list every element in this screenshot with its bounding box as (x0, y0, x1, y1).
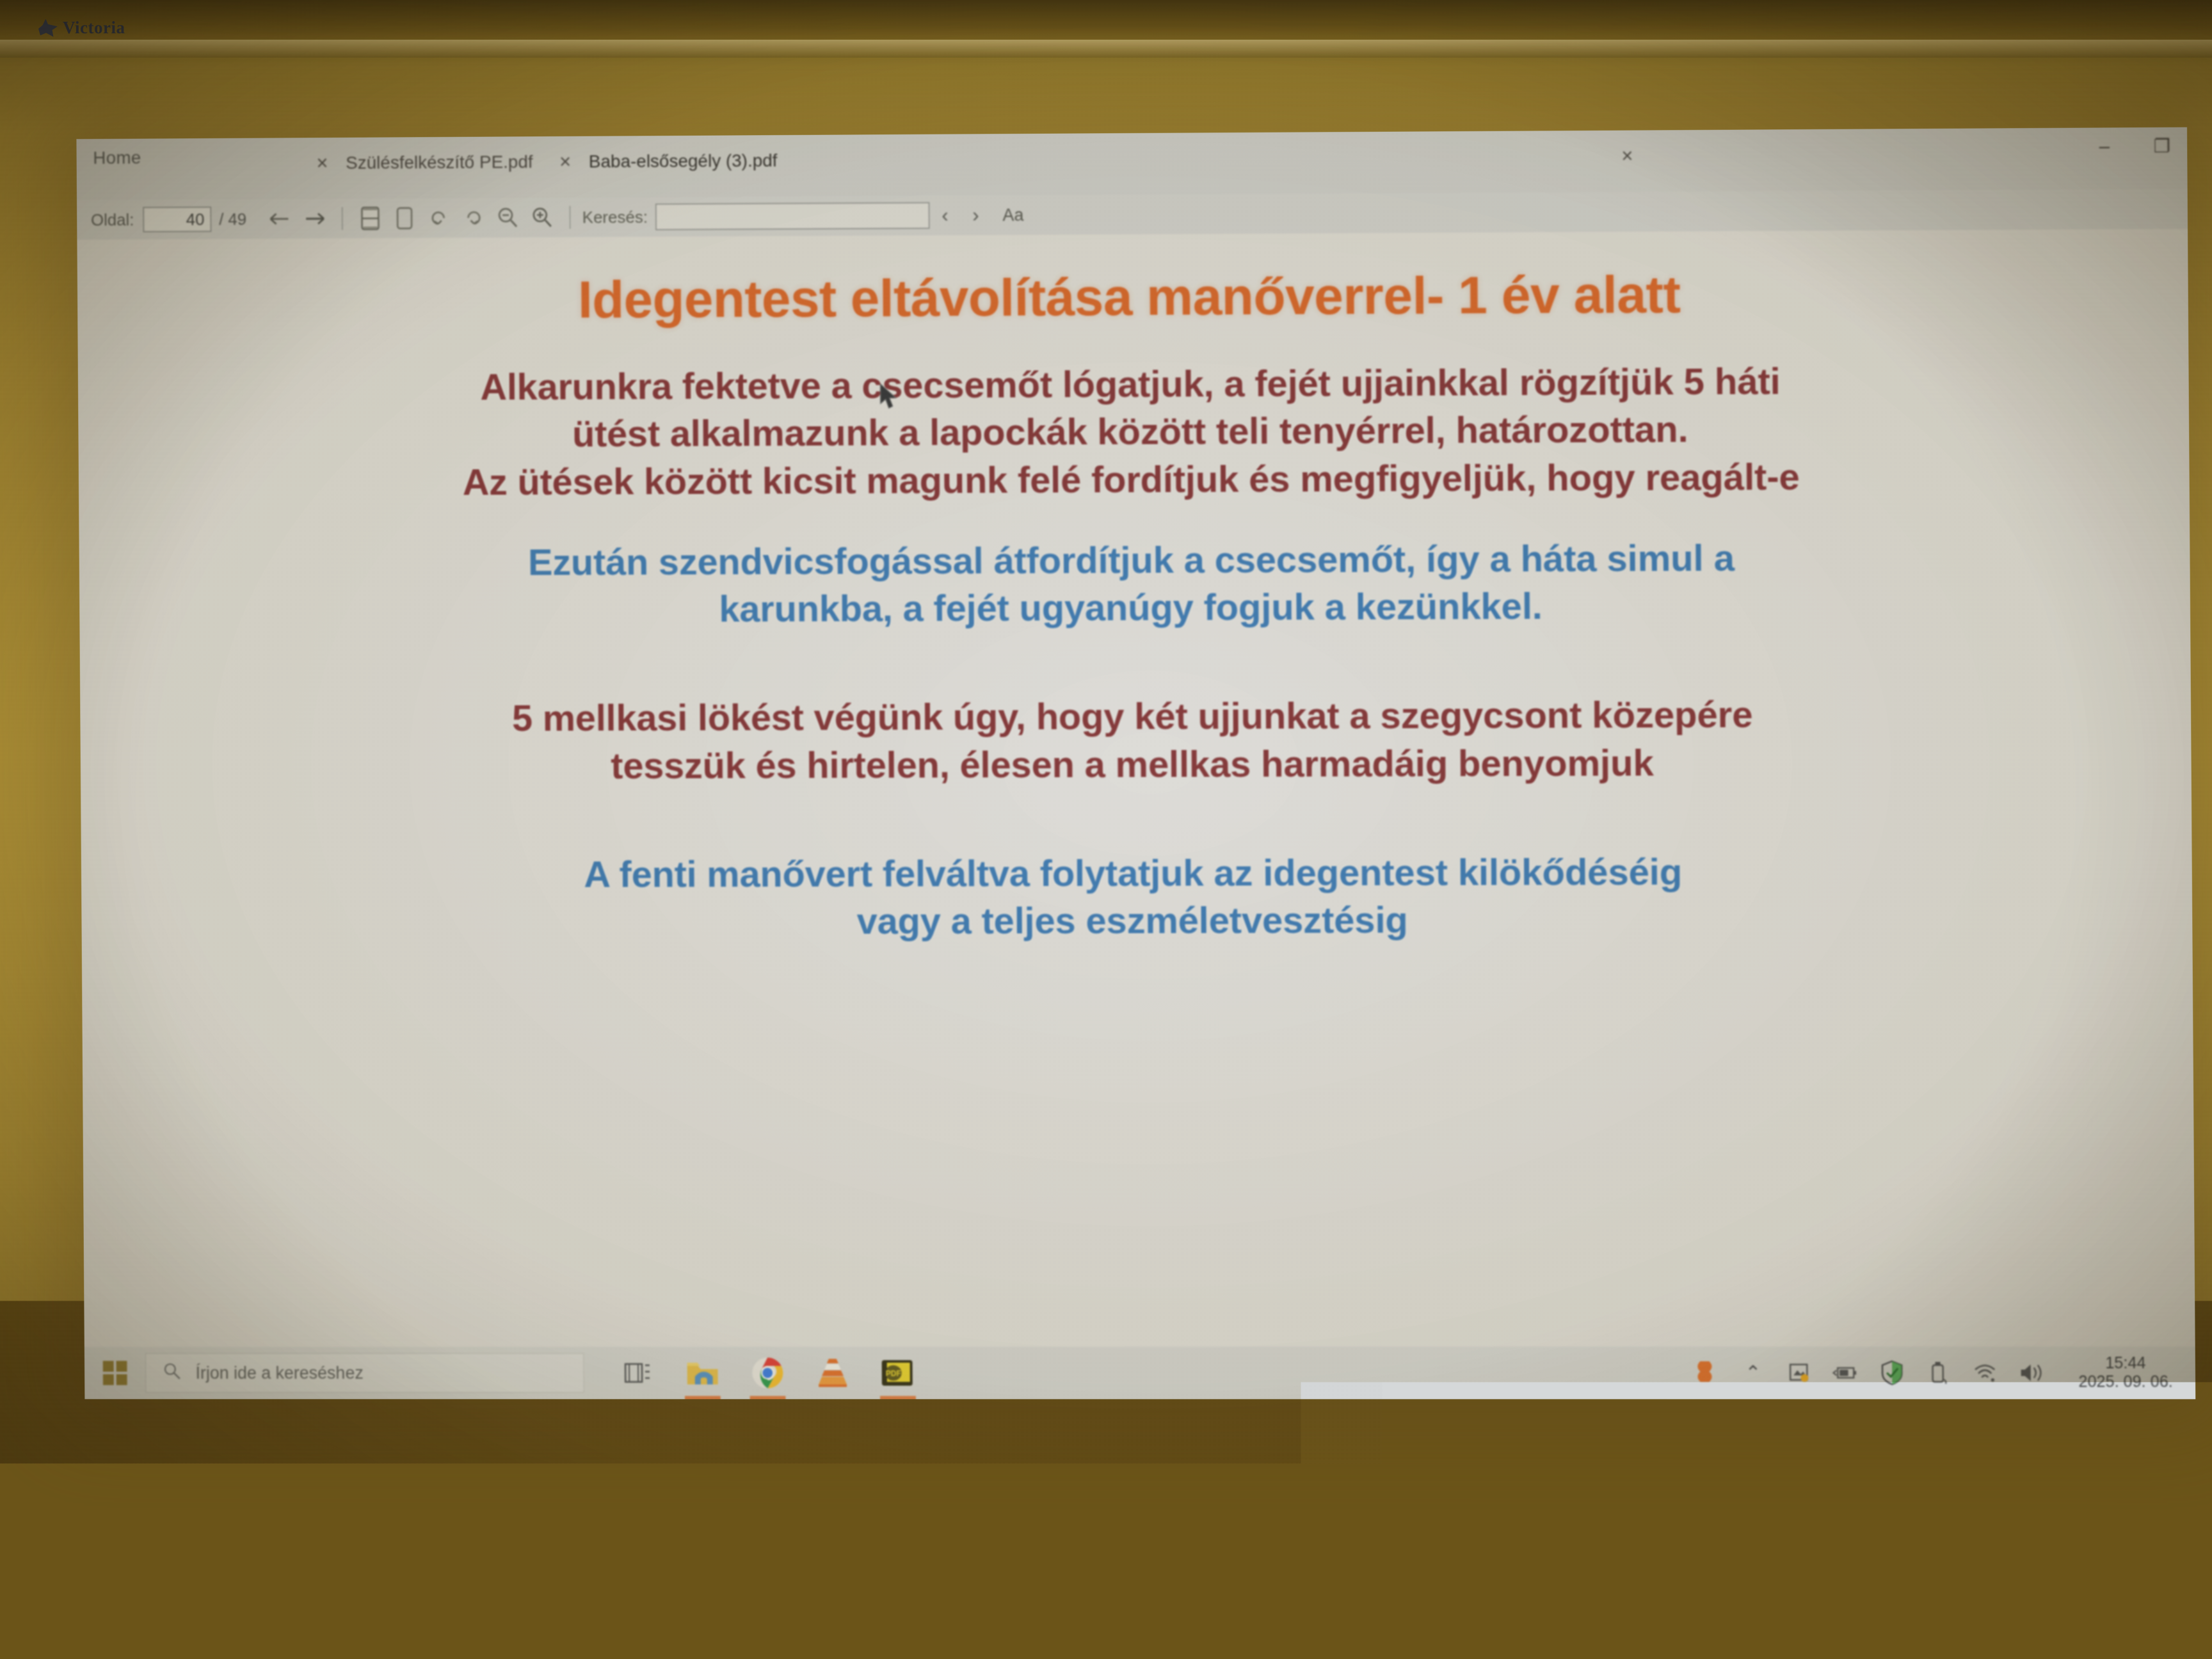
text-size-button[interactable]: Aa (1002, 205, 1023, 225)
show-hidden-icons-icon[interactable]: ⌃ (1739, 1359, 1768, 1387)
screen-frame-edge (0, 40, 2212, 58)
file-explorer-icon[interactable] (682, 1352, 723, 1393)
rotate-clockwise-icon[interactable] (456, 204, 491, 232)
wifi-icon[interactable] (1971, 1359, 2000, 1387)
rotate-counterclockwise-icon[interactable] (422, 204, 456, 232)
wall-logo: Victoria (38, 18, 125, 38)
windows-start-icon[interactable] (84, 1347, 146, 1399)
windows-taskbar: Írjon ide a kereséshez (84, 1347, 2195, 1399)
tab-strip: Home × Szülésfelkészítő PE.pdf × Baba-el… (76, 127, 2187, 200)
zoom-out-icon[interactable] (490, 204, 525, 232)
search-label: Keresés: (582, 207, 648, 227)
find-previous-icon[interactable]: ‹ (929, 201, 960, 229)
victoria-bird-icon (38, 19, 58, 37)
tray-app-orange-icon[interactable] (1692, 1359, 1721, 1387)
battery-charging-icon[interactable] (1831, 1359, 1860, 1387)
paragraph-1: Alkarunkra fektetve a csecsemőt lógatjuk… (154, 357, 2112, 508)
window-controls: – ❐ (2099, 138, 2170, 157)
volume-icon[interactable] (2017, 1359, 2046, 1387)
usb-eject-icon[interactable] (1924, 1359, 1953, 1387)
slide-title: Idegentest eltávolítása manőverrel- 1 év… (154, 264, 2111, 331)
paragraph-3: 5 mellkasi lökést végünk úgy, hogy két u… (156, 691, 2114, 791)
paragraph-2-line-2: karunkba, a fejét ugyanúgy fogjuk a kezü… (156, 581, 2113, 636)
tab-szulesfelkeszito[interactable]: × Szülésfelkészítő PE.pdf (316, 141, 533, 184)
taskbar-clock[interactable]: 15:44 2025. 09. 06. (2070, 1354, 2181, 1391)
home-menu-label[interactable]: Home (93, 148, 141, 168)
search-icon (163, 1361, 182, 1385)
find-next-icon[interactable]: › (960, 201, 991, 229)
tab-close-icon[interactable]: × (316, 152, 328, 175)
tab-close-icon[interactable]: × (559, 150, 571, 173)
ceiling-band (0, 0, 2212, 45)
projection-screen: Home × Szülésfelkészítő PE.pdf × Baba-el… (76, 127, 2195, 1399)
paragraph-3-line-1: 5 mellkasi lökést végünk úgy, hogy két u… (156, 691, 2113, 744)
zoom-in-icon[interactable] (525, 204, 559, 232)
search-input[interactable] (655, 202, 930, 230)
paragraph-4-line-2: vagy a teljes eszméletvesztésig (157, 895, 2115, 947)
paragraph-4-line-1: A fenti manővert felváltva folytatjuk az… (157, 847, 2115, 899)
toolbar-divider-2 (570, 206, 571, 229)
taskbar-search-placeholder: Írjon ide a kereséshez (195, 1363, 363, 1383)
taskbar-search-input[interactable]: Írjon ide a kereséshez (145, 1353, 584, 1393)
page-total-label: / 49 (219, 209, 246, 229)
paragraph-2-line-1: Ezután szendvicsfogással átfordítjuk a c… (155, 533, 2112, 588)
pdf-reader-window: Home × Szülésfelkészítő PE.pdf × Baba-el… (76, 127, 2195, 1399)
paragraph-1-line-2: ütést alkalmazunk a lapockák között teli… (154, 405, 2112, 460)
minimize-button[interactable]: – (2099, 138, 2110, 156)
paragraph-3-line-2: tesszük és hirtelen, élesen a mellkas ha… (157, 738, 2114, 791)
tab-extra-close[interactable]: × (1621, 136, 1633, 177)
onedrive-sync-icon[interactable] (1785, 1359, 1814, 1387)
wall-logo-label: Victoria (63, 18, 125, 38)
arrow-left-icon[interactable] (263, 205, 298, 233)
windows-defender-icon[interactable] (1878, 1359, 1907, 1387)
tab-label: Szülésfelkészítő PE.pdf (346, 152, 533, 173)
paragraph-2: Ezután szendvicsfogással átfordítjuk a c… (155, 533, 2113, 635)
vlc-icon[interactable] (812, 1352, 853, 1393)
pdf-page-content: Idegentest eltávolítása manőverrel- 1 év… (77, 228, 2195, 1347)
tab-close-icon[interactable]: × (1621, 145, 1633, 168)
chrome-icon[interactable] (747, 1352, 788, 1393)
projector-photo: Victoria Home × Szülésfelkészítő PE.pdf … (0, 0, 2212, 1659)
two-page-view-icon[interactable] (353, 204, 388, 232)
arrow-right-icon[interactable] (297, 205, 332, 233)
restore-button[interactable]: ❐ (2154, 138, 2170, 156)
toolbar-divider (342, 207, 343, 230)
taskbar-apps: PDF (617, 1352, 918, 1393)
clock-time: 15:44 (2070, 1354, 2181, 1373)
tab-baba-elsosegely[interactable]: × Baba-elsősegély (3).pdf (559, 140, 778, 182)
pdf-reader-icon[interactable]: PDF (878, 1352, 918, 1393)
system-tray: ⌃ (1692, 1354, 2195, 1391)
mouse-pointer (879, 383, 901, 412)
page-label: Oldal: (91, 210, 134, 230)
svg-text:PDF: PDF (886, 1369, 901, 1378)
clock-date: 2025. 09. 06. (2070, 1373, 2181, 1392)
paragraph-4: A fenti manővert felváltva folytatjuk az… (157, 847, 2115, 947)
task-view-icon[interactable] (617, 1352, 658, 1393)
paragraph-1-line-3: Az ütések között kicsit magunk felé ford… (155, 452, 2112, 508)
single-page-view-icon[interactable] (387, 204, 422, 232)
tab-label: Baba-elsősegély (3).pdf (589, 150, 778, 172)
paragraph-1-line-1: Alkarunkra fektetve a csecsemőt lógatjuk… (154, 357, 2112, 413)
page-number-input[interactable]: 40 (143, 207, 211, 232)
